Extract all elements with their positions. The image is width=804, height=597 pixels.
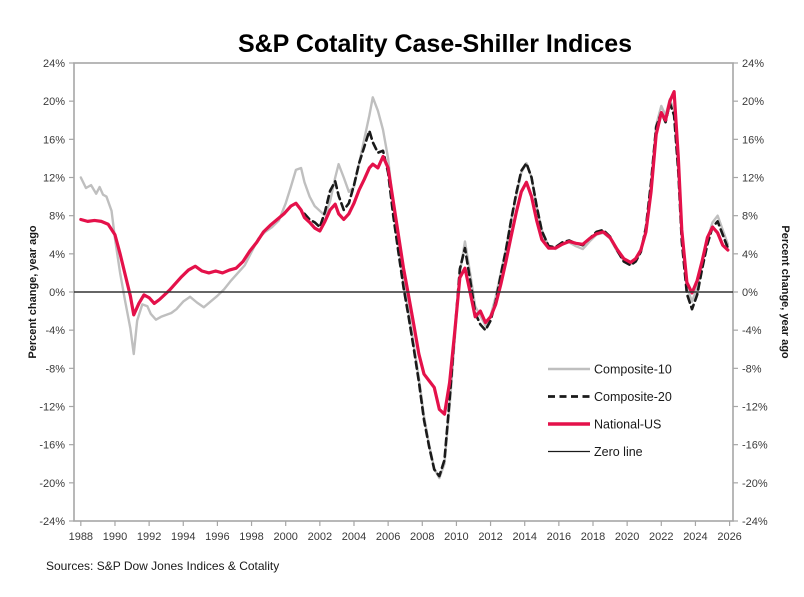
x-tick-label: 1992 [137, 531, 161, 543]
source-note: Sources: S&P Dow Jones Indices & Cotalit… [46, 559, 279, 573]
x-tick-label: 2012 [478, 531, 502, 543]
y-tick-label-left: 24% [43, 58, 65, 70]
x-tick-label: 1996 [205, 531, 229, 543]
y-tick-label-left: -20% [39, 478, 65, 490]
legend-label-zero-line: Zero line [594, 445, 643, 459]
y-tick-label-right: 12% [742, 173, 764, 185]
chart-title: S&P Cotality Case-Shiller Indices [238, 30, 632, 58]
y-tick-label-right: -16% [742, 440, 768, 452]
y-tick-label-right: 4% [742, 249, 758, 261]
chart-background [0, 0, 804, 592]
x-tick-label: 2014 [512, 531, 536, 543]
y-axis-left-title: Percent change, year ago [27, 225, 39, 359]
y-tick-label-left: -4% [45, 325, 65, 337]
y-tick-label-left: 16% [43, 134, 65, 146]
y-tick-label-left: -12% [39, 402, 65, 414]
y-tick-label-left: -16% [39, 440, 65, 452]
x-tick-label: 1990 [103, 531, 127, 543]
x-tick-label: 2002 [308, 531, 332, 543]
legend-label-composite-20: Composite-20 [594, 390, 672, 404]
y-tick-label-right: -24% [742, 516, 768, 528]
x-tick-label: 1988 [69, 531, 93, 543]
x-tick-label: 2010 [444, 531, 468, 543]
x-tick-label: 2016 [547, 531, 571, 543]
y-tick-label-right: 16% [742, 134, 764, 146]
y-tick-label-left: -24% [39, 516, 65, 528]
y-tick-label-right: -20% [742, 478, 768, 490]
x-tick-label: 2006 [376, 531, 400, 543]
y-tick-label-left: 4% [49, 249, 65, 261]
y-tick-label-right: 20% [742, 96, 764, 108]
x-tick-label: 2018 [581, 531, 605, 543]
chart-container: S&P Cotality Case-Shiller Indices 24%20%… [0, 0, 804, 592]
x-tick-label: 1994 [171, 531, 195, 543]
legend-label-composite-10: Composite-10 [594, 363, 672, 377]
x-tick-label: 2000 [273, 531, 297, 543]
x-tick-label: 1998 [239, 531, 263, 543]
x-tick-label: 2004 [342, 531, 366, 543]
legend-label-national-us: National-US [594, 418, 661, 432]
x-tick-label: 2024 [683, 531, 707, 543]
y-axis-right-title: Percent change, year ago [779, 225, 791, 359]
case-shiller-line-chart: S&P Cotality Case-Shiller Indices 24%20%… [0, 0, 804, 592]
y-tick-label-right: 24% [742, 58, 764, 70]
y-tick-label-right: 8% [742, 211, 758, 223]
y-tick-label-left: 20% [43, 96, 65, 108]
y-tick-label-right: -8% [742, 363, 762, 375]
y-tick-label-left: 12% [43, 173, 65, 185]
x-tick-label: 2008 [410, 531, 434, 543]
y-tick-label-right: 0% [742, 287, 758, 299]
x-tick-label: 2022 [649, 531, 673, 543]
y-tick-label-left: -8% [45, 363, 65, 375]
x-tick-label: 2026 [717, 531, 741, 543]
y-tick-label-left: 8% [49, 211, 65, 223]
y-tick-label-right: -4% [742, 325, 762, 337]
y-tick-label-right: -12% [742, 402, 768, 414]
x-tick-label: 2020 [615, 531, 639, 543]
y-tick-label-left: 0% [49, 287, 65, 299]
